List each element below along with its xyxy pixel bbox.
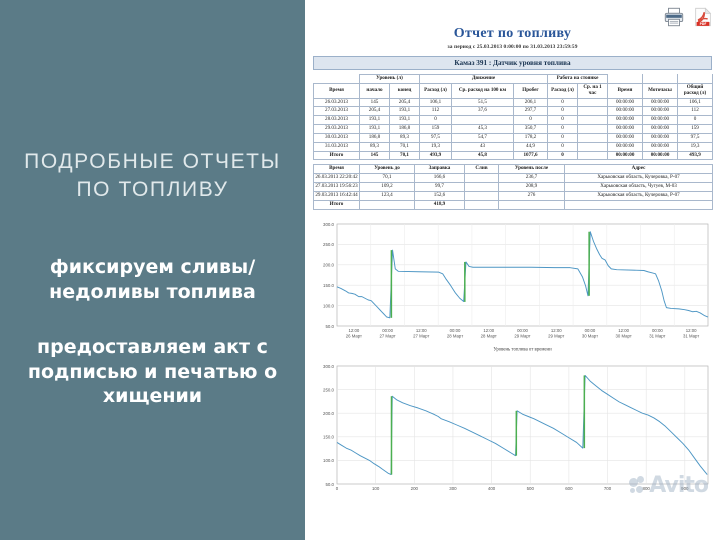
table-cell: 00:00:00 xyxy=(643,151,678,160)
table-cell: 0 xyxy=(548,107,578,116)
table-cell: 0 xyxy=(420,116,452,125)
events-cell: 152,6 xyxy=(415,191,465,200)
table-cell xyxy=(578,133,608,142)
events-cell: 236,7 xyxy=(499,174,565,183)
table-cell: 70,1 xyxy=(390,151,420,160)
events-column-header-3: Слив xyxy=(465,165,499,174)
table-cell: 54,7 xyxy=(452,133,514,142)
report-title: Отчет по топливу xyxy=(305,26,720,42)
column-header-5: Пробег xyxy=(514,83,548,98)
svg-text:500: 500 xyxy=(527,486,535,491)
table-cell: 493,9 xyxy=(420,151,452,160)
events-cell xyxy=(465,191,499,200)
table-cell: 205,4 xyxy=(360,107,390,116)
table-cell: 00:00:00 xyxy=(643,116,678,125)
table-cell: 97,5 xyxy=(678,133,713,142)
table-cell: 00:00:00 xyxy=(643,125,678,134)
events-body: 26.03.2013 22:20:4270,1166,6236,7Харьков… xyxy=(314,174,713,209)
table-header-row: ВремяначалоконецРасход (л)Ср. расход на … xyxy=(314,83,713,98)
table-cell: 145 xyxy=(360,151,390,160)
table-cell: 145 xyxy=(360,98,390,107)
events-cell: 27.03.2013 19:56:23 xyxy=(314,183,360,192)
svg-text:Уровень топлива от времени: Уровень топлива от времени xyxy=(493,347,552,352)
print-icon[interactable] xyxy=(663,6,685,28)
column-header-6: Расход (л) xyxy=(548,83,578,98)
events-cell: 208,9 xyxy=(499,183,565,192)
svg-text:12:00: 12:00 xyxy=(686,328,697,333)
promo-bullet-2: предоставляем акт с подписью и печатью о… xyxy=(28,335,277,409)
svg-text:31 Март: 31 Март xyxy=(649,333,665,338)
table-cell: 27.03.2013 xyxy=(314,107,360,116)
table-cell: 29.03.2013 xyxy=(314,125,360,134)
table-cell: 00:00:00 xyxy=(608,125,643,134)
promo-panel: ПОДРОБНЫЕ ОТЧЕТЫ ПО ТОПЛИВУ фиксируем сл… xyxy=(0,0,305,540)
svg-text:00:00: 00:00 xyxy=(517,328,528,333)
table-cell: 350,7 xyxy=(514,125,548,134)
column-header-2: конец xyxy=(390,83,420,98)
svg-text:400: 400 xyxy=(488,486,496,491)
events-column-header-4: Уровень после xyxy=(499,165,565,174)
group-header-6 xyxy=(678,75,713,84)
events-column-header-5: Адрес xyxy=(565,165,713,174)
svg-text:600: 600 xyxy=(565,486,573,491)
table-cell: 00:00:00 xyxy=(643,98,678,107)
svg-text:30 Март: 30 Март xyxy=(616,333,632,338)
svg-text:300.0: 300.0 xyxy=(323,221,335,226)
table-cell: 159 xyxy=(420,125,452,134)
svg-text:300.0: 300.0 xyxy=(323,363,335,368)
column-header-9: Моточасы xyxy=(643,83,678,98)
events-cell: 418,9 xyxy=(415,200,465,209)
promo-bullet-1: фиксируем сливы/ недоливы топлива xyxy=(49,255,256,304)
table-cell: 112 xyxy=(420,107,452,116)
table-cell: 89,3 xyxy=(360,142,390,151)
events-cell: Харьковская область, Чугуев, М-03 xyxy=(565,183,713,192)
events-cell: 166,6 xyxy=(415,174,465,183)
svg-text:100.0: 100.0 xyxy=(323,303,335,308)
fuel-events-table: ВремяУровень доЗаправкаСливУровень после… xyxy=(313,164,713,209)
table-cell: 0 xyxy=(548,116,578,125)
svg-text:PDF: PDF xyxy=(700,22,707,26)
events-cell xyxy=(465,200,499,209)
events-cell: 109,2 xyxy=(360,183,415,192)
table-cell: 31.03.2013 xyxy=(314,142,360,151)
svg-text:50.0: 50.0 xyxy=(325,323,334,328)
svg-text:250.0: 250.0 xyxy=(323,242,335,247)
events-cell xyxy=(499,200,565,209)
events-cell: 99,7 xyxy=(415,183,465,192)
events-cell: Харьковская область, Кучеровка, Р-07 xyxy=(565,191,713,200)
column-header-7: Ср. на 1 час xyxy=(578,83,608,98)
svg-text:0: 0 xyxy=(336,486,339,491)
table-cell: 106,1 xyxy=(420,98,452,107)
svg-text:100.0: 100.0 xyxy=(323,458,335,463)
chart-1-svg: 50.0100.0150.0200.0250.0300.012:0026 Мар… xyxy=(313,220,712,352)
table-cell: 186,8 xyxy=(360,133,390,142)
table-cell: 00:00:00 xyxy=(608,107,643,116)
table-cell: 00:00:00 xyxy=(643,133,678,142)
svg-text:12:00: 12:00 xyxy=(348,328,359,333)
table-cell: 00:00:00 xyxy=(643,142,678,151)
table-cell: 70,1 xyxy=(390,142,420,151)
table-row: 28.03.2013193,1193,100000:00:0000:00:000 xyxy=(314,116,713,125)
events-header-row: ВремяУровень доЗаправкаСливУровень после… xyxy=(314,165,713,174)
group-header-5 xyxy=(643,75,678,84)
table-row: 26.03.2013145205,4106,151,5206,1000:00:0… xyxy=(314,98,713,107)
svg-text:12:00: 12:00 xyxy=(416,328,427,333)
group-header-0 xyxy=(314,75,360,84)
svg-text:29 Март: 29 Март xyxy=(548,333,564,338)
group-header-3: Работа на стоянке xyxy=(548,75,608,84)
table-cell: 45,3 xyxy=(452,125,514,134)
events-cell: 29.03.2013 16:42:44 xyxy=(314,191,360,200)
svg-text:00:00: 00:00 xyxy=(652,328,663,333)
table-cell: 186,8 xyxy=(390,125,420,134)
table-cell xyxy=(578,107,608,116)
table-cell: 206,1 xyxy=(514,98,548,107)
table-cell: 178,2 xyxy=(514,133,548,142)
table-cell: 97,5 xyxy=(420,133,452,142)
events-total-row: Итого418,9 xyxy=(314,200,713,209)
svg-text:200: 200 xyxy=(411,486,419,491)
fuel-level-time-chart: 50.0100.0150.0200.0250.0300.012:0026 Мар… xyxy=(313,220,712,352)
svg-text:150.0: 150.0 xyxy=(323,434,335,439)
svg-text:28 Март: 28 Март xyxy=(447,333,463,338)
table-cell: 0 xyxy=(548,98,578,107)
svg-text:27 Март: 27 Март xyxy=(413,333,429,338)
table-cell: 44,9 xyxy=(514,142,548,151)
group-header-4 xyxy=(608,75,643,84)
events-cell xyxy=(465,174,499,183)
table-cell: 0 xyxy=(678,116,713,125)
column-header-0: Время xyxy=(314,83,360,98)
events-cell: 70,1 xyxy=(360,174,415,183)
table-group-header-row: Уровень (л)ДвижениеРабота на стоянке xyxy=(314,75,713,84)
events-cell xyxy=(465,183,499,192)
table-total-row: Итого14570,1493,945,81077,6000:00:0000:0… xyxy=(314,151,713,160)
report-panel: PDF Отчет по топливу за период с 25.03.2… xyxy=(305,0,720,540)
table-cell: 28.03.2013 xyxy=(314,116,360,125)
group-header-1: Уровень (л) xyxy=(360,75,420,84)
table-cell: 493,9 xyxy=(678,151,713,160)
table-cell: 45,8 xyxy=(452,151,514,160)
table-cell xyxy=(578,142,608,151)
pdf-icon[interactable]: PDF xyxy=(692,6,714,28)
table-cell: 26.03.2013 xyxy=(314,98,360,107)
svg-text:700: 700 xyxy=(604,486,612,491)
report-toolbar: PDF xyxy=(663,6,714,28)
svg-text:28 Март: 28 Март xyxy=(481,333,497,338)
column-header-10: Общий расход (л) xyxy=(678,83,713,98)
device-header-bar: Камаз 391 : Датчик уровня топлива xyxy=(313,56,712,70)
table-cell: 106,1 xyxy=(678,98,713,107)
column-header-3: Расход (л) xyxy=(420,83,452,98)
table-cell: 00:00:00 xyxy=(608,98,643,107)
table-cell: 51,5 xyxy=(452,98,514,107)
svg-text:800: 800 xyxy=(643,486,651,491)
events-row: 26.03.2013 22:20:4270,1166,6236,7Харьков… xyxy=(314,174,713,183)
column-header-8: Время xyxy=(608,83,643,98)
events-cell: Харьковская область, Кучеровка, Р-07 xyxy=(565,174,713,183)
table-cell: 193,1 xyxy=(390,116,420,125)
table-cell: 1077,6 xyxy=(514,151,548,160)
table-row: 30.03.2013186,889,397,554,7178,2000:00:0… xyxy=(314,133,713,142)
svg-text:150.0: 150.0 xyxy=(323,283,335,288)
table-cell: 00:00:00 xyxy=(643,107,678,116)
svg-text:300: 300 xyxy=(449,486,457,491)
svg-text:900: 900 xyxy=(681,486,689,491)
table-cell: 00:00:00 xyxy=(608,151,643,160)
column-header-4: Ср. расход на 100 км xyxy=(452,83,514,98)
table-cell: 30.03.2013 xyxy=(314,133,360,142)
column-header-1: начало xyxy=(360,83,390,98)
svg-text:12:00: 12:00 xyxy=(483,328,494,333)
table-row: 27.03.2013205,4193,111237,6297,7000:00:0… xyxy=(314,107,713,116)
svg-text:00:00: 00:00 xyxy=(382,328,393,333)
table-cell: 19,3 xyxy=(420,142,452,151)
events-row: 29.03.2013 16:42:44123,4152,6276Харьковс… xyxy=(314,191,713,200)
table-cell: 193,1 xyxy=(390,107,420,116)
group-header-2: Движение xyxy=(420,75,548,84)
svg-text:27 Март: 27 Март xyxy=(379,333,395,338)
table-cell xyxy=(578,98,608,107)
svg-text:26 Март: 26 Март xyxy=(346,333,362,338)
table-cell xyxy=(578,125,608,134)
table-cell: 00:00:00 xyxy=(608,142,643,151)
svg-text:12:00: 12:00 xyxy=(551,328,562,333)
events-row: 27.03.2013 19:56:23109,299,7208,9Харьков… xyxy=(314,183,713,192)
table-cell: 0 xyxy=(548,142,578,151)
table-cell: 297,7 xyxy=(514,107,548,116)
svg-text:200.0: 200.0 xyxy=(323,411,335,416)
events-cell xyxy=(565,200,713,209)
report-subtitle: за период с 25.03.2013 0:00:00 по 31.03.… xyxy=(305,44,720,50)
table-body: 26.03.2013145205,4106,151,5206,1000:00:0… xyxy=(314,98,713,160)
svg-text:100: 100 xyxy=(372,486,380,491)
table-row: 29.03.2013193,1186,815945,3350,7000:00:0… xyxy=(314,125,713,134)
slide-root: ПОДРОБНЫЕ ОТЧЕТЫ ПО ТОПЛИВУ фиксируем сл… xyxy=(0,0,720,540)
svg-text:31 Март: 31 Март xyxy=(683,333,699,338)
svg-text:29 Март: 29 Март xyxy=(514,333,530,338)
events-cell: Итого xyxy=(314,200,360,209)
fuel-summary-table: Уровень (л)ДвижениеРабота на стоянке Вре… xyxy=(313,74,713,160)
table-cell: 00:00:00 xyxy=(608,116,643,125)
svg-text:12:00: 12:00 xyxy=(618,328,629,333)
table-cell: 0 xyxy=(548,151,578,160)
table-row: 31.03.201389,370,119,34344,9000:00:0000:… xyxy=(314,142,713,151)
table-cell: Итого xyxy=(314,151,360,160)
table-cell: 37,6 xyxy=(452,107,514,116)
promo-headline: ПОДРОБНЫЕ ОТЧЕТЫ ПО ТОПЛИВУ xyxy=(24,148,281,203)
table-cell: 0 xyxy=(548,125,578,134)
table-cell: 0 xyxy=(514,116,548,125)
table-cell: 00:00:00 xyxy=(608,133,643,142)
table-cell: 43 xyxy=(452,142,514,151)
svg-text:00:00: 00:00 xyxy=(585,328,596,333)
table-cell: 159 xyxy=(678,125,713,134)
table-cell: 193,1 xyxy=(360,125,390,134)
svg-text:250.0: 250.0 xyxy=(323,387,335,392)
table-cell xyxy=(578,116,608,125)
events-cell: 123,4 xyxy=(360,191,415,200)
svg-text:200.0: 200.0 xyxy=(323,262,335,267)
table-cell: 19,3 xyxy=(678,142,713,151)
events-cell xyxy=(360,200,415,209)
events-cell: 276 xyxy=(499,191,565,200)
fuel-level-index-chart: 50.0100.0150.0200.0250.0300.001002003004… xyxy=(313,362,712,500)
svg-text:50.0: 50.0 xyxy=(325,481,334,486)
table-cell: 89,3 xyxy=(390,133,420,142)
svg-text:30 Март: 30 Март xyxy=(582,333,598,338)
events-column-header-1: Уровень до xyxy=(360,165,415,174)
chart-2-svg: 50.0100.0150.0200.0250.0300.001002003004… xyxy=(313,362,712,500)
events-column-header-0: Время xyxy=(314,165,360,174)
events-column-header-2: Заправка xyxy=(415,165,465,174)
table-cell: 193,1 xyxy=(360,116,390,125)
table-cell: 205,4 xyxy=(390,98,420,107)
table-cell xyxy=(578,151,608,160)
svg-text:00:00: 00:00 xyxy=(450,328,461,333)
events-cell: 26.03.2013 22:20:42 xyxy=(314,174,360,183)
table-cell: 0 xyxy=(548,133,578,142)
table-cell xyxy=(452,116,514,125)
table-cell: 112 xyxy=(678,107,713,116)
